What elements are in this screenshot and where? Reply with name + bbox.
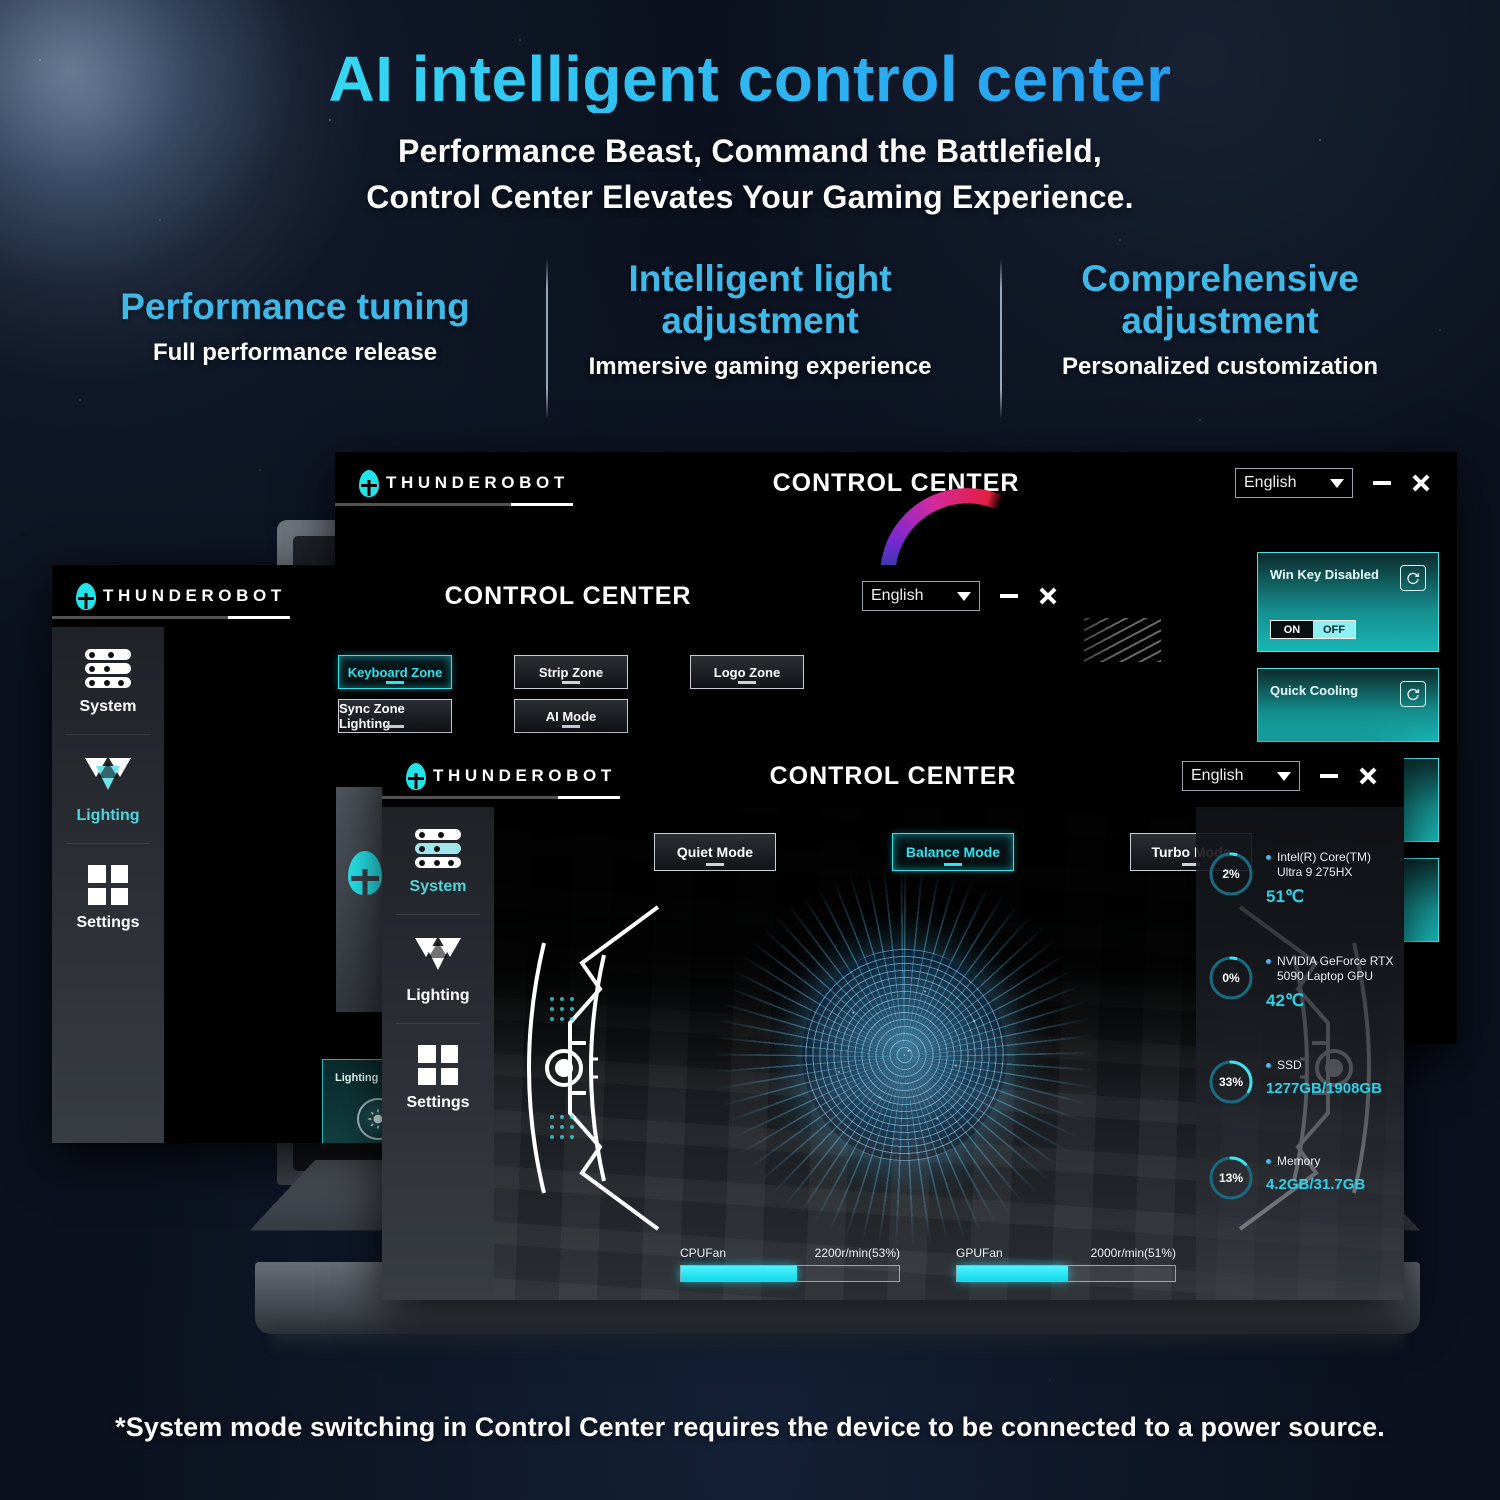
stat-text: Intel(R) Core(TM) Ultra 9 275HX 51℃ (1266, 849, 1396, 907)
fan-row: GPUFan 2000r/min(51%) (956, 1246, 1176, 1260)
window-titlebar: THUNDEROBOT CONTROL CENTER English (382, 745, 1404, 807)
window-controls: English (1182, 761, 1404, 791)
feature-title-line-2: adjustment (530, 300, 990, 342)
lighting-zone-buttons: Keyboard Zone Sync Zone Lighting Strip Z… (338, 655, 804, 733)
hero-subtitle-line-2: Control Center Elevates Your Gaming Expe… (0, 175, 1500, 220)
thunderobot-helmet-icon (76, 583, 96, 610)
thunderobot-helmet-icon (406, 763, 426, 790)
chevron-down-icon (957, 592, 971, 601)
language-value: English (1244, 474, 1296, 492)
thunderobot-helmet-icon (348, 851, 382, 895)
usage-percent: 13% (1206, 1153, 1256, 1203)
stat-name: SSD (1266, 1058, 1382, 1073)
card-win-key-disabled[interactable]: Win Key Disabled ON OFF (1257, 552, 1439, 652)
lighting-icon (85, 756, 131, 798)
language-value: English (1191, 767, 1243, 785)
fan-cpu: CPUFan 2200r/min(53%) (680, 1246, 900, 1282)
stat-text: Memory 4.2GB/31.7GB (1266, 1153, 1365, 1193)
fan-gpu: GPUFan 2000r/min(51%) (956, 1246, 1176, 1282)
brand-logo: THUNDEROBOT (52, 583, 286, 610)
sidebar-item-label: System (382, 878, 494, 896)
sidebar-nav: System Lighting Settings (382, 807, 494, 1300)
window-titlebar: THUNDEROBOT CONTROL CENTER English (52, 565, 1084, 627)
brand-name: THUNDEROBOT (103, 586, 286, 606)
chevron-down-icon (1277, 772, 1291, 781)
hud-bracket-left (508, 903, 668, 1233)
stat-text: NVIDIA GeForce RTX 5090 Laptop GPU 42℃ (1266, 953, 1396, 1011)
feature-description: Personalized customization (990, 353, 1450, 381)
stat-value: 51℃ (1266, 887, 1396, 907)
stat-value: 42℃ (1266, 991, 1396, 1011)
feature-description: Immersive gaming experience (530, 353, 990, 381)
zone-button-strip[interactable]: Strip Zone (514, 655, 628, 689)
usage-percent: 0% (1206, 953, 1256, 1003)
sidebar-item-settings[interactable]: Settings (382, 1023, 494, 1130)
footnote: *System mode switching in Control Center… (0, 1412, 1500, 1443)
mode-button-quiet[interactable]: Quiet Mode (654, 833, 776, 871)
zone-column-3: Logo Zone (690, 655, 804, 733)
stat-name: Intel(R) Core(TM) Ultra 9 275HX (1266, 850, 1396, 880)
fan-progress-fill (681, 1266, 797, 1281)
lighting-toggle-label: Lighting (335, 1072, 378, 1084)
card-quick-cooling[interactable]: Quick Cooling (1257, 668, 1439, 742)
feature-divider (1000, 260, 1002, 418)
usage-percent: 33% (1206, 1057, 1256, 1107)
settings-grid-icon (418, 1045, 458, 1085)
fan-label: CPUFan (680, 1246, 726, 1260)
feature-title: Intelligent light adjustment (530, 258, 990, 342)
language-dropdown[interactable]: English (862, 581, 980, 611)
usage-percent: 2% (1206, 849, 1256, 899)
fan-row: CPUFan 2200r/min(53%) (680, 1246, 900, 1260)
sidebar-item-label: System (52, 698, 164, 716)
close-icon[interactable] (1411, 473, 1431, 493)
zone-button-sync-zone-lighting[interactable]: Sync Zone Lighting (338, 699, 452, 733)
feature-title: Comprehensive adjustment (990, 258, 1450, 342)
system-icon (85, 649, 131, 689)
performance-mode-buttons: Quiet Mode Balance Mode Turbo Mode (654, 833, 1252, 871)
sidebar-item-settings[interactable]: Settings (52, 843, 164, 950)
brand-logo: THUNDEROBOT (335, 470, 569, 497)
stat-name: NVIDIA GeForce RTX 5090 Laptop GPU (1266, 954, 1396, 984)
feature-title-line-1: Comprehensive (990, 258, 1450, 300)
stat-text: SSD 1277GB/1908GB (1266, 1057, 1382, 1097)
zone-button-ai-mode[interactable]: AI Mode (514, 699, 628, 733)
brand-name: THUNDEROBOT (433, 766, 616, 786)
memory-usage-ring: 13% (1206, 1153, 1256, 1203)
hero-subtitle-line-1: Performance Beast, Command the Battlefie… (0, 129, 1500, 174)
hero-section: AI intelligent control center Performanc… (0, 0, 1500, 220)
close-icon[interactable] (1038, 586, 1058, 606)
feature-intelligent-light-adjustment: Intelligent light adjustment Immersive g… (530, 252, 990, 381)
window-controls: English (1235, 468, 1457, 498)
lighting-icon (415, 936, 461, 978)
language-dropdown[interactable]: English (1182, 761, 1300, 791)
zone-button-logo[interactable]: Logo Zone (690, 655, 804, 689)
fan-progress-bar[interactable] (956, 1265, 1176, 1282)
zone-column-2: Strip Zone AI Mode (514, 655, 628, 733)
stat-name: Memory (1266, 1154, 1365, 1169)
zone-button-keyboard[interactable]: Keyboard Zone (338, 655, 452, 689)
mode-button-balance[interactable]: Balance Mode (892, 833, 1014, 871)
stat-gpu: 0% NVIDIA GeForce RTX 5090 Laptop GPU 42… (1206, 953, 1396, 1011)
fan-label: GPUFan (956, 1246, 1003, 1260)
refresh-icon[interactable] (1400, 681, 1426, 707)
feature-title-line-2: adjustment (990, 300, 1450, 342)
sidebar-item-label: Lighting (52, 807, 164, 825)
feature-title-line-1: Intelligent light (530, 258, 990, 300)
minimize-button[interactable] (1000, 594, 1018, 598)
stat-value: 1277GB/1908GB (1266, 1080, 1382, 1097)
thunderobot-helmet-icon (359, 470, 379, 497)
language-value: English (871, 587, 923, 605)
fan-progress-fill (957, 1266, 1068, 1281)
sidebar-item-system[interactable]: System (382, 807, 494, 914)
window-controls: English (862, 581, 1084, 611)
laptop-shadow (273, 1326, 1403, 1352)
gpu-usage-ring: 0% (1206, 953, 1256, 1003)
zone-column-1: Keyboard Zone Sync Zone Lighting (338, 655, 452, 733)
toggle-off[interactable]: OFF (1313, 621, 1355, 638)
sidebar-item-label: Settings (52, 914, 164, 932)
fan-value: 2000r/min(51%) (1091, 1246, 1176, 1260)
sidebar-nav: System Lighting Settings (52, 627, 164, 1143)
stat-memory: 13% Memory 4.2GB/31.7GB (1206, 1153, 1396, 1203)
chevron-down-icon (1330, 479, 1344, 488)
fan-controls: CPUFan 2200r/min(53%) GPUFan 2000r/min(5… (680, 1246, 1176, 1282)
page-title: AI intelligent control center (0, 46, 1500, 113)
close-icon[interactable] (1358, 766, 1378, 786)
toggle-on[interactable]: ON (1271, 621, 1313, 638)
stat-ssd: 33% SSD 1277GB/1908GB (1206, 1057, 1396, 1107)
sidebar-item-lighting[interactable]: Lighting (382, 914, 494, 1023)
brand-underline (52, 616, 290, 619)
sidebar-item-label: Settings (382, 1094, 494, 1112)
feature-comprehensive-adjustment: Comprehensive adjustment Personalized cu… (990, 252, 1450, 381)
brand-underline (335, 503, 573, 506)
control-center-window-system[interactable]: THUNDEROBOT CONTROL CENTER English Syste… (382, 745, 1404, 1300)
sidebar-item-label: Lighting (382, 987, 494, 1005)
hero-subtitle: Performance Beast, Command the Battlefie… (0, 129, 1500, 220)
minimize-button[interactable] (1373, 481, 1391, 485)
feature-performance-tuning: Performance tuning Full performance rele… (60, 252, 530, 367)
brand-logo: THUNDEROBOT (382, 763, 616, 790)
stat-value: 4.2GB/31.7GB (1266, 1176, 1365, 1193)
feature-columns: Performance tuning Full performance rele… (60, 252, 1450, 427)
feature-description: Full performance release (60, 339, 530, 367)
refresh-icon[interactable] (1400, 565, 1426, 591)
window-titlebar: THUNDEROBOT CONTROL CENTER English (335, 452, 1457, 514)
language-dropdown[interactable]: English (1235, 468, 1353, 498)
stat-cpu: 2% Intel(R) Core(TM) Ultra 9 275HX 51℃ (1206, 849, 1396, 907)
sidebar-item-system[interactable]: System (52, 627, 164, 734)
feature-divider (546, 260, 548, 418)
brand-underline (382, 796, 620, 799)
fan-progress-bar[interactable] (680, 1265, 900, 1282)
ssd-usage-ring: 33% (1206, 1057, 1256, 1107)
minimize-button[interactable] (1320, 774, 1338, 778)
particle-sphere-graphic (754, 907, 1054, 1207)
poster-canvas: AI intelligent control center Performanc… (0, 0, 1500, 1500)
sphere-core (802, 949, 1007, 1161)
system-icon (415, 829, 461, 869)
feature-title: Performance tuning (60, 258, 530, 328)
cpu-usage-ring: 2% (1206, 849, 1256, 899)
brand-name: THUNDEROBOT (386, 473, 569, 493)
win-key-toggle[interactable]: ON OFF (1270, 620, 1356, 639)
sidebar-item-lighting[interactable]: Lighting (52, 734, 164, 843)
settings-grid-icon (88, 865, 128, 905)
fan-value: 2200r/min(53%) (815, 1246, 900, 1260)
system-stats-panel: 2% Intel(R) Core(TM) Ultra 9 275HX 51℃ 0… (1196, 807, 1404, 1300)
